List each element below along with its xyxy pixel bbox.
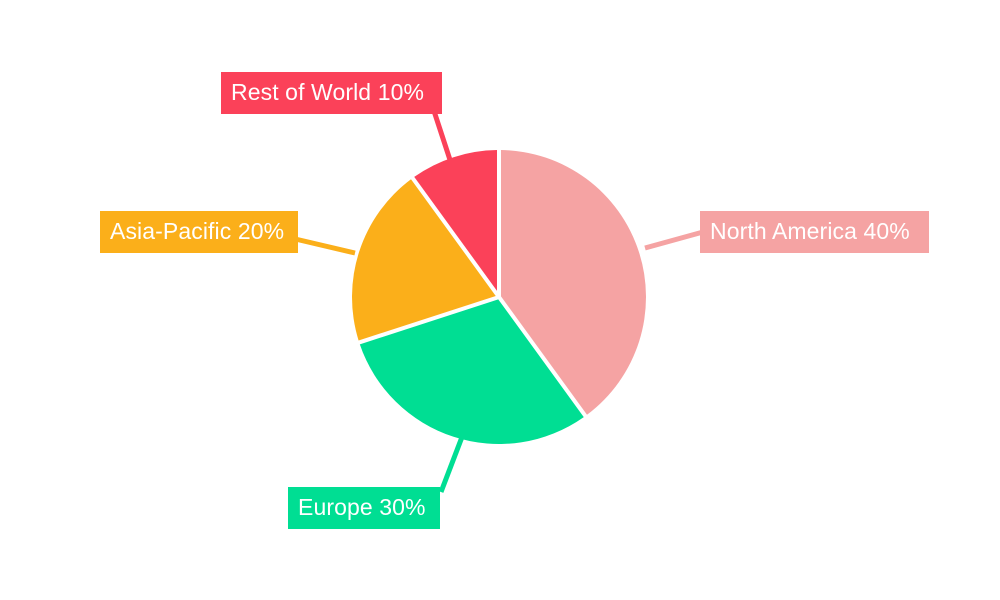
pie-chart-canvas — [0, 0, 1000, 600]
pie-label-north-america-text: North America 40% — [710, 220, 910, 243]
pie-slices — [352, 150, 646, 444]
pie-label-north-america[interactable]: North America 40% — [700, 211, 929, 253]
pie-chart: North America 40% Europe 30% Asia-Pacifi… — [0, 0, 1000, 600]
leader-line-europe — [441, 437, 462, 492]
pie-label-asia-pacific-text: Asia-Pacific 20% — [110, 220, 284, 243]
leader-line-asia-pacific — [291, 238, 355, 253]
pie-label-rest-of-world[interactable]: Rest of World 10% — [221, 72, 442, 114]
pie-label-europe-text: Europe 30% — [298, 496, 426, 519]
pie-label-asia-pacific[interactable]: Asia-Pacific 20% — [100, 211, 298, 253]
leader-line-rest-of-world — [434, 111, 452, 166]
leader-line-north-america — [645, 232, 703, 248]
pie-label-rest-of-world-text: Rest of World 10% — [231, 81, 424, 104]
pie-label-europe[interactable]: Europe 30% — [288, 487, 440, 529]
